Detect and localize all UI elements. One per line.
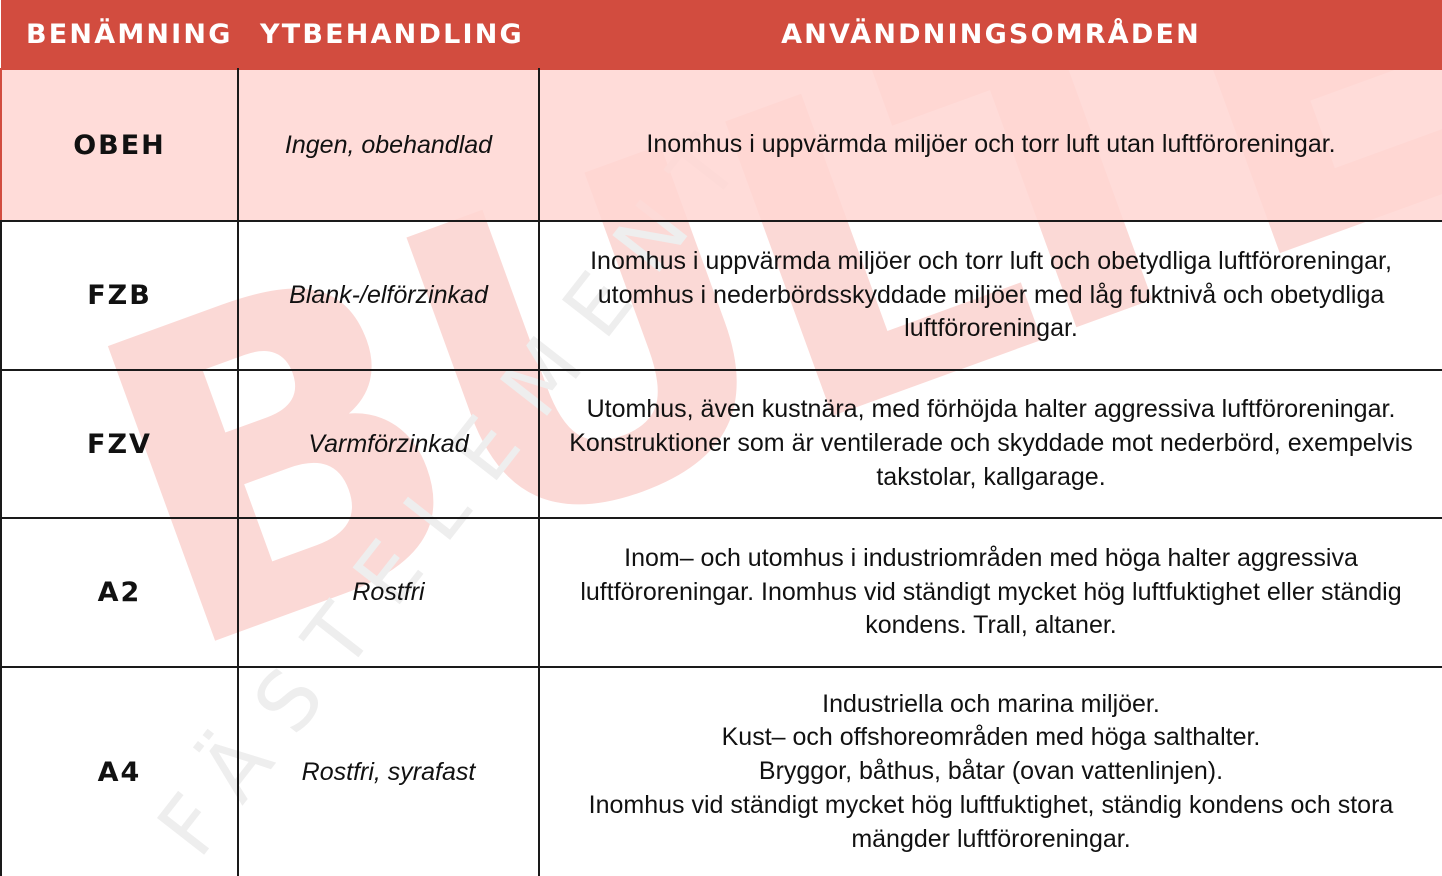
cell-code: FZB — [1, 221, 238, 370]
table-row: A2 Rostfri Inom– och utomhus i industrio… — [1, 518, 1442, 667]
surface-treatment-table-container: BENÄMNING YTBEHANDLING ANVÄNDNINGSOMRÅDE… — [0, 0, 1442, 876]
cell-treatment: Rostfri — [238, 518, 539, 667]
column-header-anvandningsomraden: ANVÄNDNINGSOMRÅDEN — [539, 0, 1442, 69]
table-row: OBEH Ingen, obehandlad Inomhus i uppvärm… — [1, 69, 1442, 221]
cell-usage: Industriella och marina miljöer. Kust– o… — [539, 667, 1442, 876]
table-header: BENÄMNING YTBEHANDLING ANVÄNDNINGSOMRÅDE… — [1, 0, 1442, 69]
table-header-row: BENÄMNING YTBEHANDLING ANVÄNDNINGSOMRÅDE… — [1, 0, 1442, 69]
cell-usage: Inom– och utomhus i industriområden med … — [539, 518, 1442, 667]
surface-treatment-table: BENÄMNING YTBEHANDLING ANVÄNDNINGSOMRÅDE… — [0, 0, 1442, 876]
cell-code: A2 — [1, 518, 238, 667]
cell-treatment: Rostfri, syrafast — [238, 667, 539, 876]
cell-code: A4 — [1, 667, 238, 876]
table-row: FZB Blank-/elförzinkad Inomhus i uppvärm… — [1, 221, 1442, 370]
column-header-ytbehandling: YTBEHANDLING — [238, 0, 539, 69]
page-root: BULTEN FÄSTELEMENT BENÄMNING YTBEHANDLIN… — [0, 0, 1442, 876]
cell-code: FZV — [1, 370, 238, 518]
cell-treatment: Blank-/elförzinkad — [238, 221, 539, 370]
table-row: FZV Varmförzinkad Utomhus, även kustnära… — [1, 370, 1442, 518]
table-row: A4 Rostfri, syrafast Industriella och ma… — [1, 667, 1442, 876]
cell-usage: Inomhus i uppvärmda miljöer och torr luf… — [539, 69, 1442, 221]
column-header-benamning: BENÄMNING — [1, 0, 238, 69]
cell-treatment: Varmförzinkad — [238, 370, 539, 518]
cell-code: OBEH — [1, 69, 238, 221]
table-body: OBEH Ingen, obehandlad Inomhus i uppvärm… — [1, 69, 1442, 876]
cell-usage: Utomhus, även kustnära, med förhöjda hal… — [539, 370, 1442, 518]
cell-usage: Inomhus i uppvärmda miljöer och torr luf… — [539, 221, 1442, 370]
cell-treatment: Ingen, obehandlad — [238, 69, 539, 221]
